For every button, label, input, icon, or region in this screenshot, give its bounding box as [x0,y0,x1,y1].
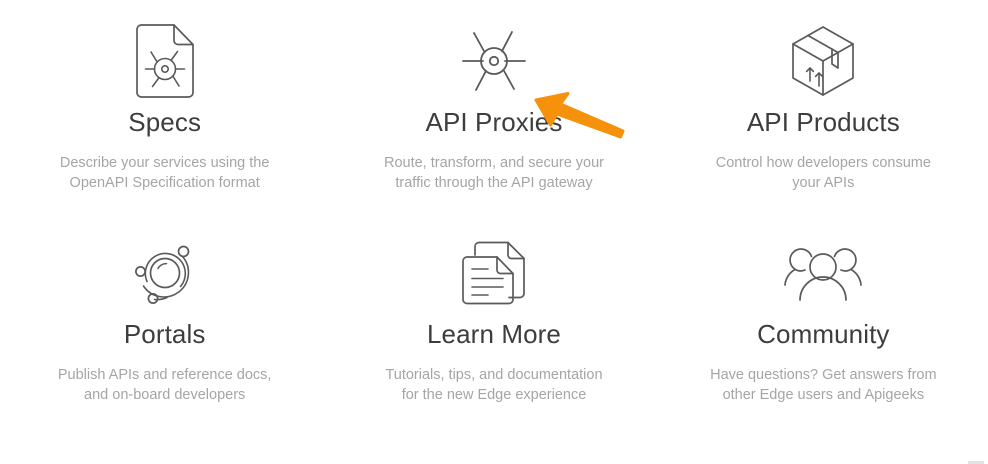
card-description-line: Route, transform, and secure your [384,153,604,174]
card-title: API Products [747,108,900,137]
card-description-line: other Edge users and Apigeeks [710,385,936,406]
card-title: Learn More [427,320,561,349]
card-title: API Proxies [426,108,563,137]
card-community[interactable]: Community Have questions? Get answers fr… [659,218,988,430]
card-portals[interactable]: Portals Publish APIs and reference docs,… [0,218,329,430]
card-description-line: traffic through the API gateway [384,173,604,194]
card-description: Describe your services using the OpenAPI… [60,153,270,194]
card-description-line: your APIs [716,173,931,194]
home-landing-panel: Specs Describe your services using the O… [0,0,988,464]
documents-stack-icon [459,236,529,310]
card-description: Have questions? Get answers from other E… [710,365,936,406]
card-title: Community [757,320,889,349]
card-description-line: OpenAPI Specification format [60,173,270,194]
card-description: Route, transform, and secure your traffi… [384,153,604,194]
shortcut-card-grid: Specs Describe your services using the O… [0,6,988,430]
card-description: Control how developers consume your APIs [716,153,931,194]
card-description: Tutorials, tips, and documentation for t… [385,365,602,406]
api-proxy-aperture-icon [456,24,532,98]
card-description-line: Have questions? Get answers from [710,365,936,386]
card-description-line: Control how developers consume [716,153,931,174]
card-title: Specs [128,108,201,137]
card-description-line: for the new Edge experience [385,385,602,406]
card-specs[interactable]: Specs Describe your services using the O… [0,6,329,218]
spec-document-aperture-icon [132,24,198,98]
card-learn-more[interactable]: Learn More Tutorials, tips, and document… [329,218,658,430]
people-group-icon [782,236,864,310]
card-api-products[interactable]: API Products Control how developers cons… [659,6,988,218]
card-description: Publish APIs and reference docs, and on-… [58,365,272,406]
card-api-proxies[interactable]: API Proxies Route, transform, and secure… [329,6,658,218]
card-description-line: Describe your services using the [60,153,270,174]
card-description-line: Publish APIs and reference docs, [58,365,272,386]
package-box-icon [789,24,857,98]
orbit-planet-icon [130,236,200,310]
card-description-line: Tutorials, tips, and documentation [385,365,602,386]
card-title: Portals [124,320,206,349]
card-description-line: and on-board developers [58,385,272,406]
